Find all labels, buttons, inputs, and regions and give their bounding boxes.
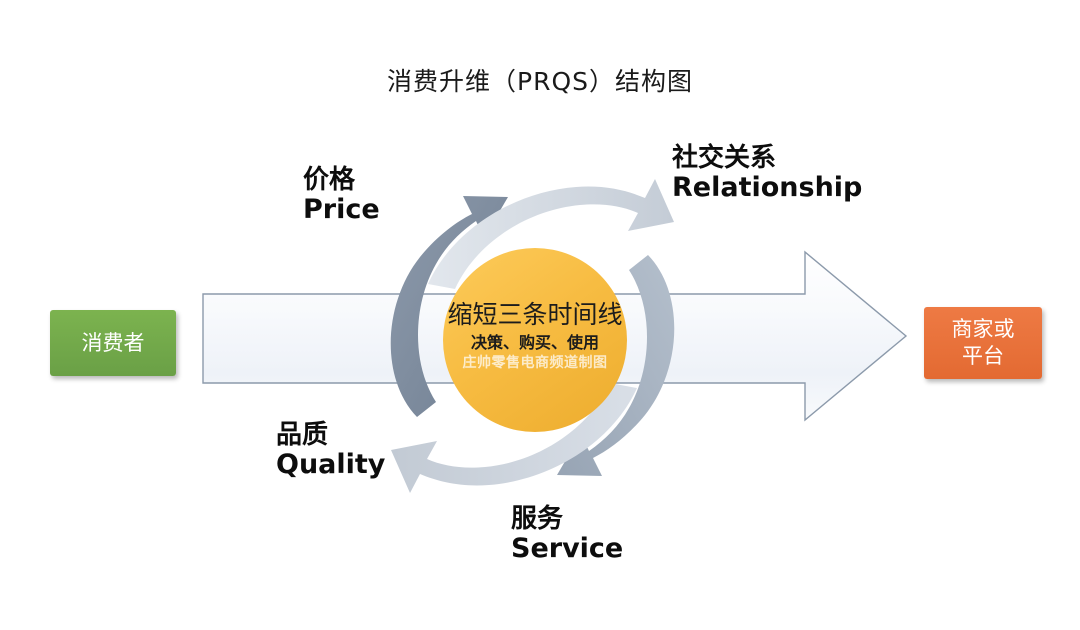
target-box-label: 商家或 平台: [952, 316, 1015, 370]
dimension-label-quality: 品质 Quality: [276, 421, 385, 480]
dimension-label-service-en: Service: [511, 534, 623, 564]
dimension-label-quality-cn: 品质: [276, 421, 385, 450]
dimension-label-price: 价格 Price: [303, 166, 380, 225]
dimension-label-price-en: Price: [303, 195, 380, 225]
diagram-canvas: 消费升维（PRQS）结构图: [0, 0, 1080, 630]
dimension-label-relationship-cn: 社交关系: [672, 144, 862, 173]
target-box-merchant: 商家或 平台: [924, 307, 1042, 379]
dimension-label-relationship: 社交关系 Relationship: [672, 144, 862, 203]
dimension-label-relationship-en: Relationship: [672, 173, 862, 203]
source-box-label: 消费者: [82, 330, 145, 357]
dimension-label-price-cn: 价格: [303, 166, 380, 195]
hub-circle: [443, 248, 627, 432]
target-box-label-line1: 商家或: [952, 317, 1015, 341]
dimension-label-quality-en: Quality: [276, 450, 385, 480]
dimension-label-service-cn: 服务: [511, 505, 623, 534]
target-box-label-line2: 平台: [962, 344, 1004, 368]
source-box-consumer: 消费者: [50, 310, 176, 376]
dimension-label-service: 服务 Service: [511, 505, 623, 564]
